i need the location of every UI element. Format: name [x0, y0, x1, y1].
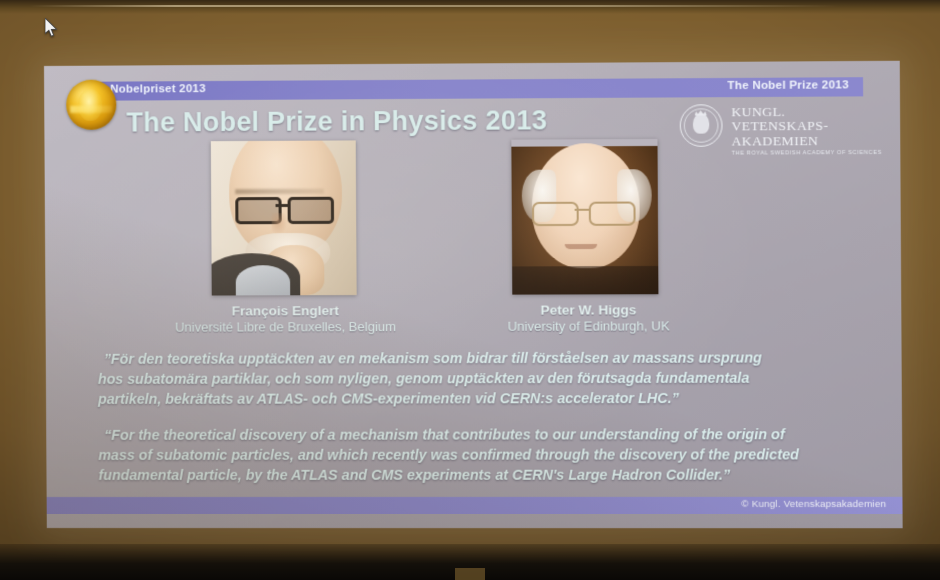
laureate-name: Peter W. Higgs: [458, 302, 720, 318]
englert-nose: [272, 213, 288, 235]
academy-logo: KUNGL. VETENSKAPS- AKADEMIEN THE ROYAL S…: [679, 103, 882, 157]
laureate-block-higgs: Peter W. Higgs University of Edinburgh, …: [458, 302, 720, 334]
citation-english: “For the theoretical discovery of a mech…: [98, 425, 863, 486]
higgs-body: [511, 266, 658, 295]
mouse-pointer-icon: [45, 18, 58, 38]
citation-english-line-1: “For the theoretical discovery of a mech…: [104, 425, 863, 446]
laureate-name: François Englert: [156, 303, 416, 319]
wall-bottom-object: [455, 568, 485, 580]
portrait-peter-higgs: [511, 139, 658, 295]
englert-collar: [236, 265, 291, 295]
slide-top-band: Nobelpriset 2013 The Nobel Prize 2013: [94, 77, 863, 101]
academy-seal-icon: [679, 104, 722, 147]
top-band-left-label: Nobelpriset 2013: [110, 83, 206, 96]
top-band-right-label: The Nobel Prize 2013: [727, 79, 849, 92]
citation-swedish-line-3: partikeln, bekräftats av ATLAS- och CMS-…: [98, 389, 863, 410]
englert-brow: [235, 189, 324, 194]
screenshot-root: Nobelpriset 2013 The Nobel Prize 2013 Th…: [0, 0, 940, 580]
higgs-glasses: [530, 201, 644, 224]
englert-glasses-bridge: [276, 204, 290, 207]
laureate-block-englert: François Englert Université Libre de Bru…: [156, 303, 416, 335]
laureate-affiliation: University of Edinburgh, UK: [458, 318, 720, 334]
citation-english-line-3: fundamental particle, by the ATLAS and C…: [98, 466, 863, 487]
citation-swedish-line-2: hos subatomära partiklar, och som nylige…: [98, 369, 863, 391]
academy-line-2: VETENSKAPS-: [731, 119, 882, 134]
wall-hairline: [30, 5, 838, 7]
nobel-medal-icon: [66, 80, 116, 130]
academy-subtitle: THE ROYAL SWEDISH ACADEMY OF SCIENCES: [731, 151, 881, 158]
copyright-label: © Kungl. Vetenskapsakademien: [741, 499, 886, 510]
medal-highlight: [70, 106, 112, 113]
citation-english-line-2: mass of subatomic particles, and which r…: [98, 445, 863, 466]
citation-swedish-line-1: ”För den teoretiska upptäckten av en mek…: [104, 348, 863, 370]
slide-bottom-band: © Kungl. Vetenskapsakademien: [47, 497, 903, 514]
higgs-glasses-bridge: [575, 209, 589, 211]
higgs-lens-right: [589, 202, 636, 226]
slide-title: The Nobel Prize in Physics 2013: [126, 105, 547, 138]
englert-lens-right: [288, 197, 334, 224]
higgs-mouth: [565, 244, 597, 249]
laureate-affiliation: Université Libre de Bruxelles, Belgium: [156, 319, 416, 335]
wall-top-shadow: [0, 0, 940, 14]
portrait-francois-englert: [211, 140, 357, 295]
seal-bust-shape: [693, 113, 709, 133]
citation-swedish: ”För den teoretiska upptäckten av en mek…: [98, 348, 863, 410]
higgs-lens-left: [532, 202, 579, 226]
academy-wordmark: KUNGL. VETENSKAPS- AKADEMIEN THE ROYAL S…: [731, 103, 882, 157]
projected-slide: Nobelpriset 2013 The Nobel Prize 2013 Th…: [44, 61, 903, 528]
academy-line-3: AKADEMIEN: [731, 133, 882, 148]
laureate-names: François Englert Université Libre de Bru…: [45, 302, 901, 304]
